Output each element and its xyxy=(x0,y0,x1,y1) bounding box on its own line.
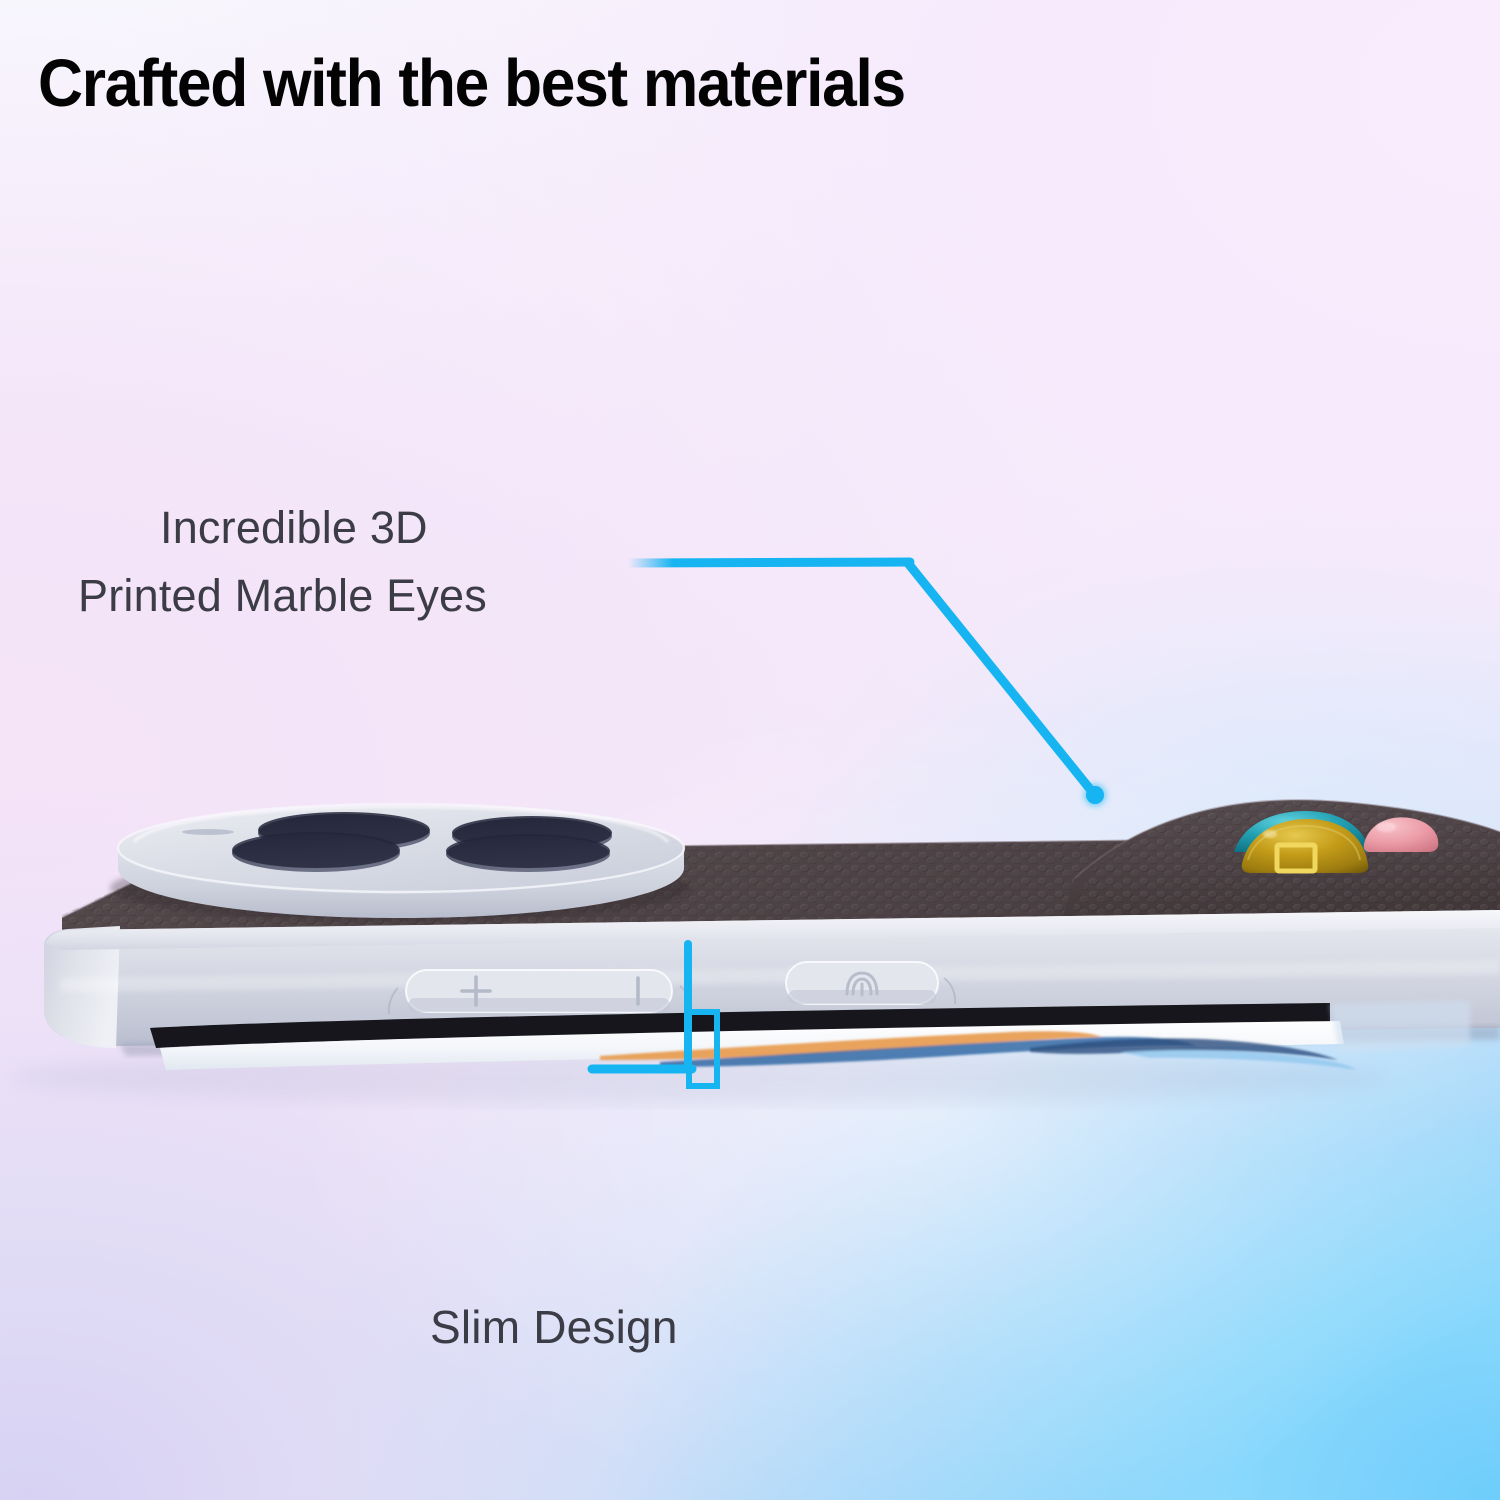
leader-bracket-slim-design xyxy=(0,0,1500,1500)
thickness-bracket xyxy=(592,944,692,1070)
callout-slim-design: Slim Design xyxy=(430,1300,678,1355)
product-feature-graphic: Crafted with the best materials xyxy=(0,0,1500,1500)
thickness-measure-box xyxy=(689,1012,717,1086)
callout-slim-design-label: Slim Design xyxy=(430,1300,678,1355)
